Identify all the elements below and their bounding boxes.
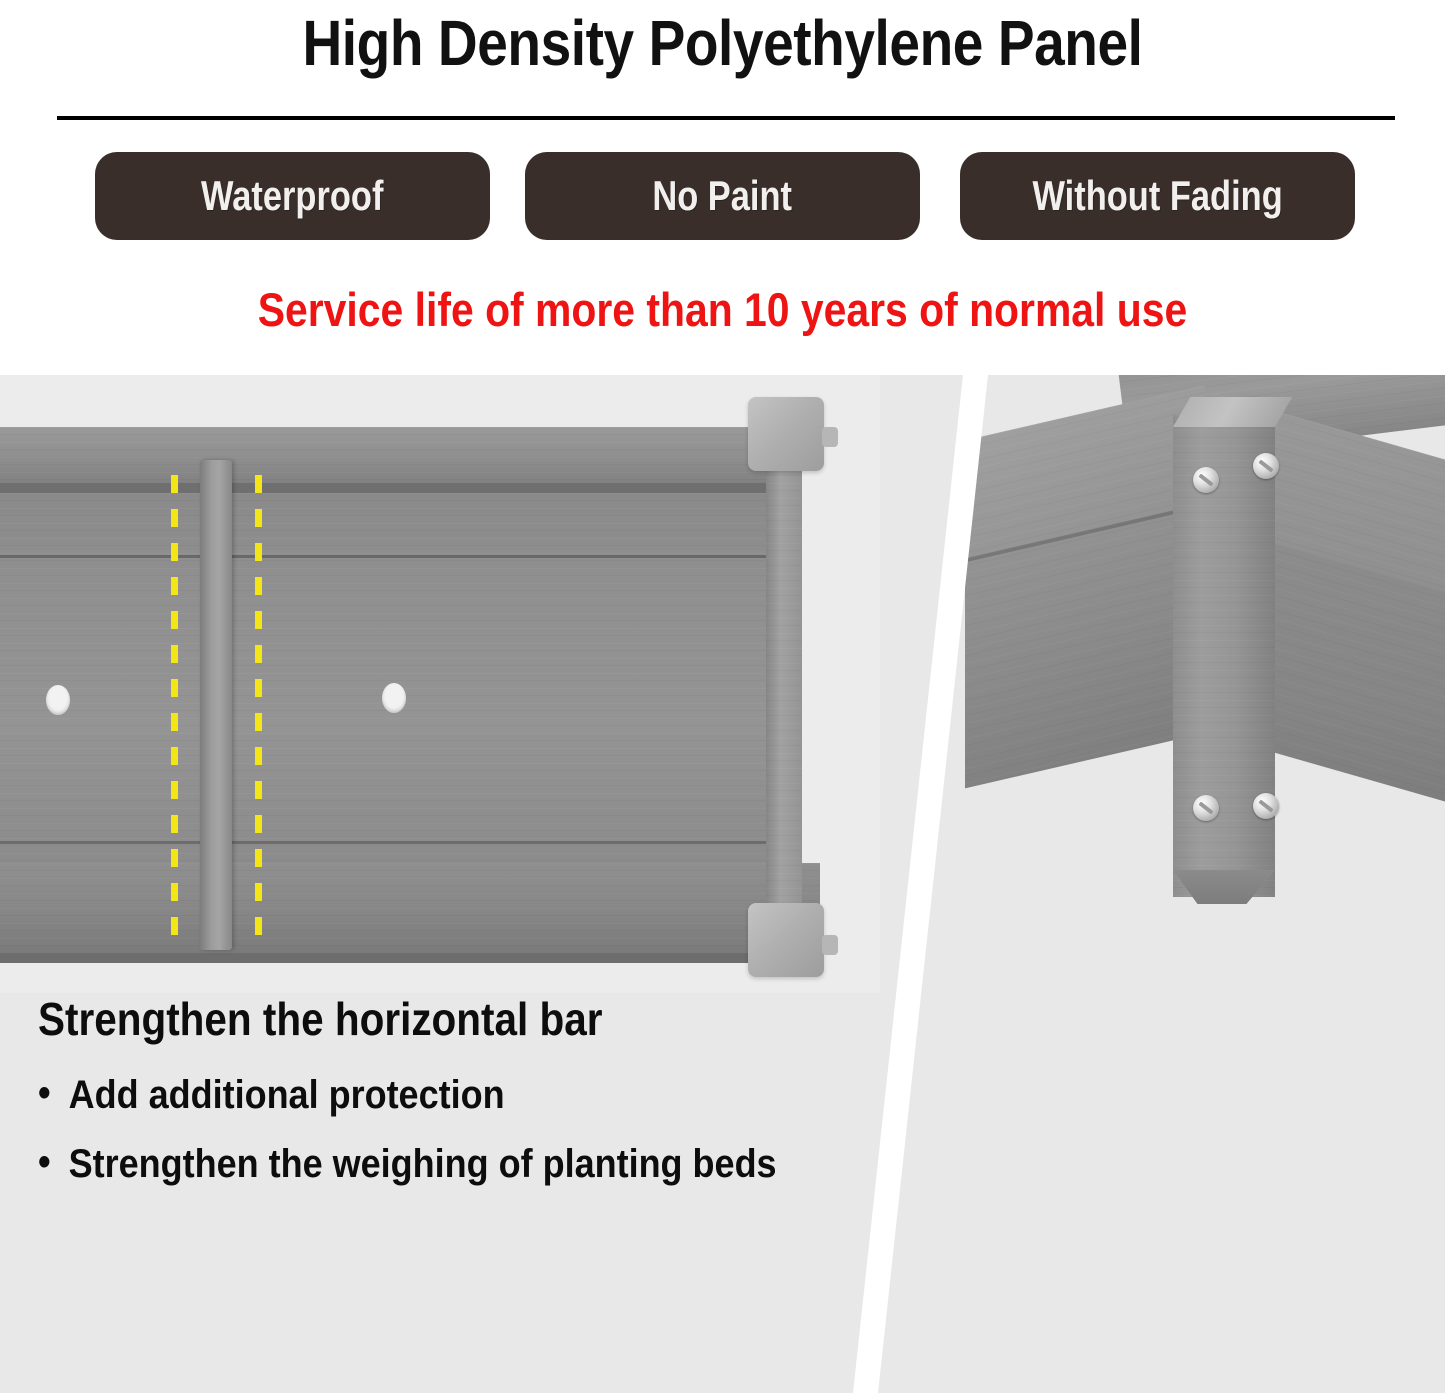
left-bullet-list: Add additional protection Strengthen the… [38, 1070, 868, 1190]
drainage-hole [382, 683, 406, 713]
corner-post-nub [822, 427, 838, 447]
left-feature-panel: Strengthen the horizontal bar Add additi… [0, 375, 965, 1393]
woodgrain-texture [766, 453, 802, 973]
list-item: Add additional protection [38, 1070, 785, 1121]
woodgrain-texture [1173, 415, 1275, 897]
badge-waterproof-label: Waterproof [201, 172, 383, 220]
board-seam [0, 841, 800, 844]
horizontal-strengthening-bar-icon [200, 460, 232, 950]
stainless-screw-icon [1253, 453, 1279, 479]
feature-panels-section: Strengthen the horizontal bar Add additi… [0, 375, 1445, 1393]
corner-post-nub [822, 935, 838, 955]
left-caption-heading: Strengthen the horizontal bar [38, 995, 768, 1044]
woodgrain-texture [0, 427, 800, 489]
badge-no-paint: No Paint [525, 152, 920, 240]
badge-no-paint-label: No Paint [653, 172, 793, 220]
header-divider-rule [57, 116, 1395, 120]
near-board-edge [0, 953, 820, 963]
badge-without-fading-label: Without Fading [1032, 172, 1282, 220]
stainless-screw-icon [1253, 793, 1279, 819]
stainless-screw-icon [1193, 467, 1219, 493]
service-life-tagline: Service life of more than 10 years of no… [94, 282, 1351, 337]
board-seam [0, 555, 800, 558]
side-rail [766, 453, 802, 973]
left-caption-block: Strengthen the horizontal bar Add additi… [38, 995, 868, 1208]
header-section: High Density Polyethylene Panel Waterpro… [0, 0, 1445, 375]
near-board [0, 863, 820, 959]
planter-top-view-photo [0, 375, 880, 993]
page-title: High Density Polyethylene Panel [101, 6, 1344, 80]
woodgrain-texture [0, 863, 820, 959]
right-feature-panel: 304 Stainless steel screw Sturdy and dur… [965, 375, 1445, 1393]
far-board-lip [0, 483, 800, 493]
corner-post-top-face [1173, 397, 1292, 427]
corner-post-cap [748, 903, 824, 977]
yellow-dashed-guide-left [171, 475, 178, 935]
stainless-screw-icon [1193, 795, 1219, 821]
yellow-dashed-guide-right [255, 475, 262, 935]
corner-post-tip [1173, 870, 1275, 904]
badge-waterproof: Waterproof [95, 152, 490, 240]
far-board [0, 427, 800, 489]
corner-post [1173, 415, 1275, 897]
list-item: Strengthen the weighing of planting beds [38, 1139, 785, 1190]
corner-post-cap [748, 397, 824, 471]
drainage-hole [46, 685, 70, 715]
feature-badge-row: Waterproof No Paint Without Fading [0, 152, 1445, 240]
corner-post-closeup-photo [965, 375, 1445, 915]
badge-without-fading: Without Fading [960, 152, 1355, 240]
